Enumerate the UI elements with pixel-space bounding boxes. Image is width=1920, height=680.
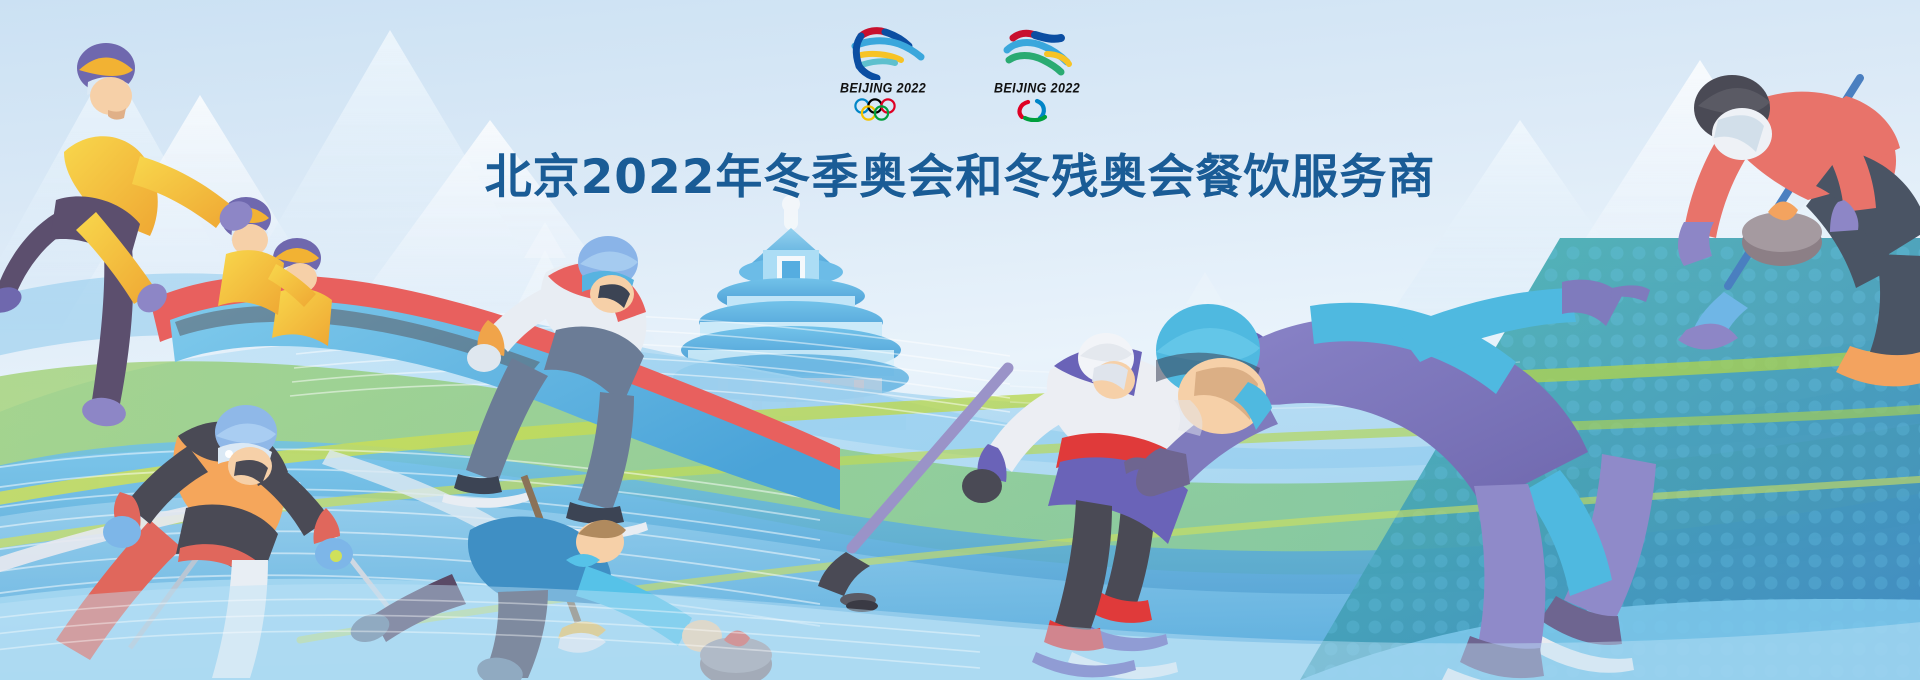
foreground-ribbons (0, 0, 1920, 680)
olympic-banner: BEIJING 2022 (0, 0, 1920, 680)
